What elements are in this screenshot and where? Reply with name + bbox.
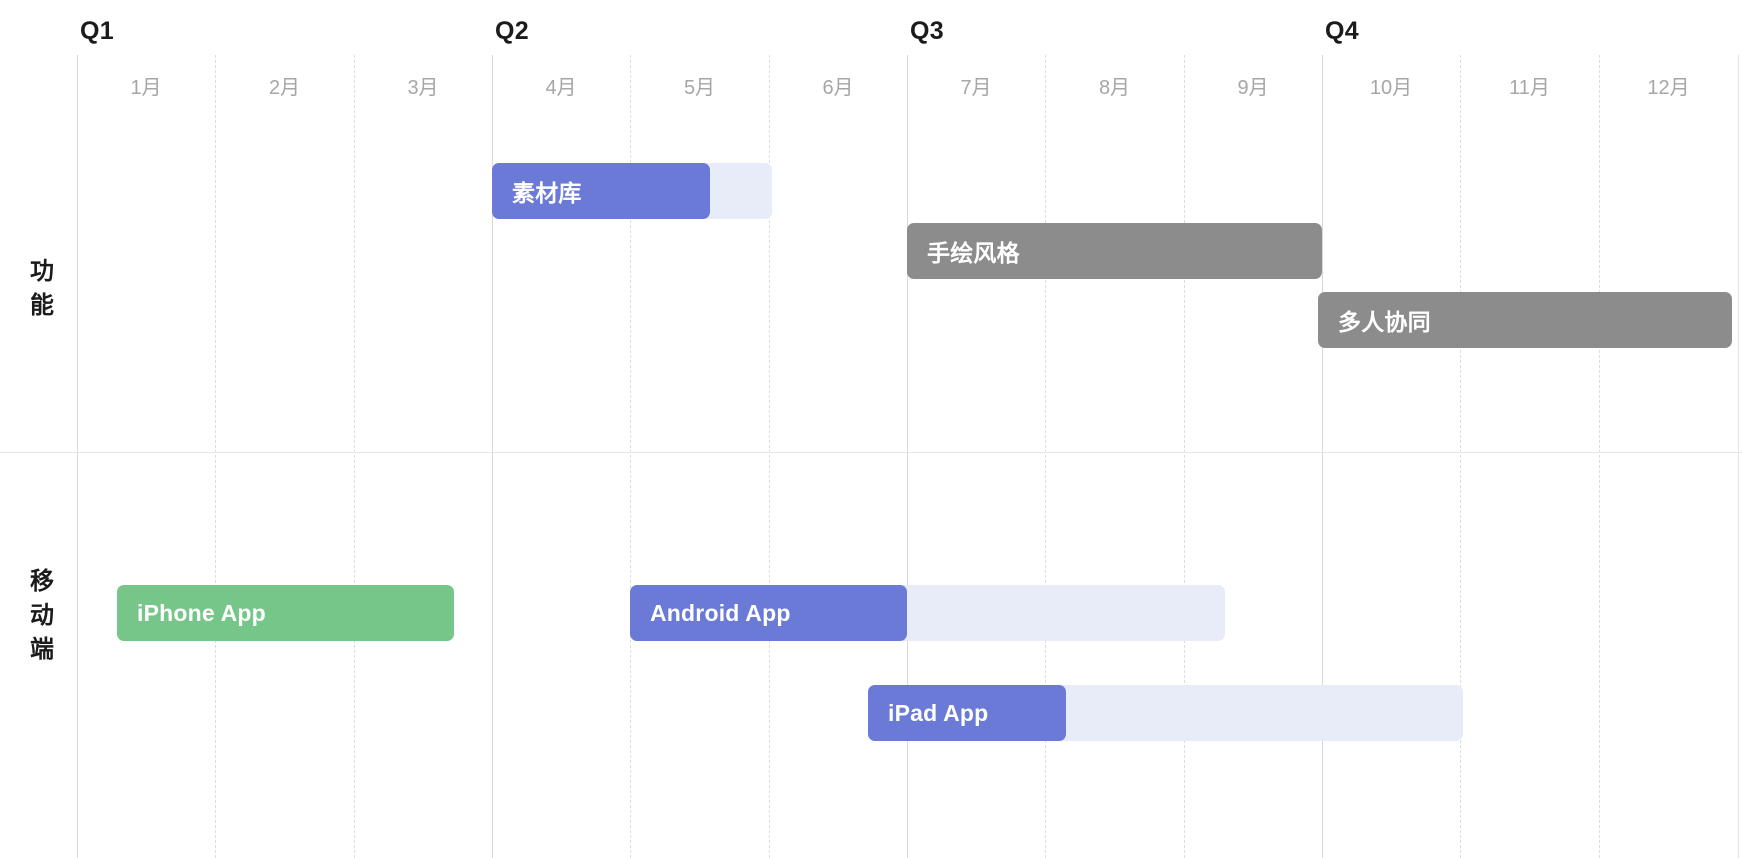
task-label-iphone-app: iPhone App xyxy=(137,600,266,627)
task-label-duorenxietong: 多人协同 xyxy=(1338,303,1431,337)
task-bar-sucaiku[interactable]: 素材库 xyxy=(492,163,710,219)
task-bar-iphone-app[interactable]: iPhone App xyxy=(117,585,454,641)
task-bar-ipad-app[interactable]: iPad App xyxy=(868,685,1066,741)
month-label-12: 12月 xyxy=(1599,71,1738,100)
row-label-features: 功能 xyxy=(20,255,64,323)
month-label-10: 10月 xyxy=(1322,71,1460,100)
task-bar-duorenxietong[interactable]: 多人协同 xyxy=(1318,292,1732,348)
month-label-5: 5月 xyxy=(630,71,769,100)
row-label-mobile: 移动端 xyxy=(20,565,64,667)
quarter-label-q4: Q4 xyxy=(1325,17,1359,46)
month-label-9: 9月 xyxy=(1184,71,1322,100)
month-label-2: 2月 xyxy=(215,71,354,100)
gridline-timeline-end xyxy=(1738,55,1739,858)
task-bar-android-app[interactable]: Android App xyxy=(630,585,907,641)
month-label-3: 3月 xyxy=(354,71,492,100)
task-label-ipad-app: iPad App xyxy=(888,700,988,727)
quarter-label-q1: Q1 xyxy=(80,17,114,46)
task-label-sucaiku: 素材库 xyxy=(512,174,582,208)
quarter-label-q3: Q3 xyxy=(910,17,944,46)
quarter-label-q2: Q2 xyxy=(495,17,529,46)
month-label-11: 11月 xyxy=(1460,71,1599,100)
month-label-6: 6月 xyxy=(769,71,907,100)
gridline-month-12 xyxy=(1599,55,1600,858)
gantt-chart: Q1 Q2 Q3 Q4 1月 2月 3月 4月 5月 6月 7月 8月 9月 1… xyxy=(0,0,1742,858)
month-label-7: 7月 xyxy=(907,71,1045,100)
month-label-8: 8月 xyxy=(1045,71,1184,100)
gridline-month-3 xyxy=(354,55,355,858)
month-label-4: 4月 xyxy=(492,71,630,100)
task-label-android-app: Android App xyxy=(650,600,791,627)
task-label-shouhuifengge: 手绘风格 xyxy=(927,234,1020,268)
gridline-q1-start xyxy=(77,55,78,858)
month-label-1: 1月 xyxy=(77,71,215,100)
row-separator xyxy=(0,452,1742,453)
task-bar-shouhuifengge[interactable]: 手绘风格 xyxy=(907,223,1322,279)
gridline-month-2 xyxy=(215,55,216,858)
